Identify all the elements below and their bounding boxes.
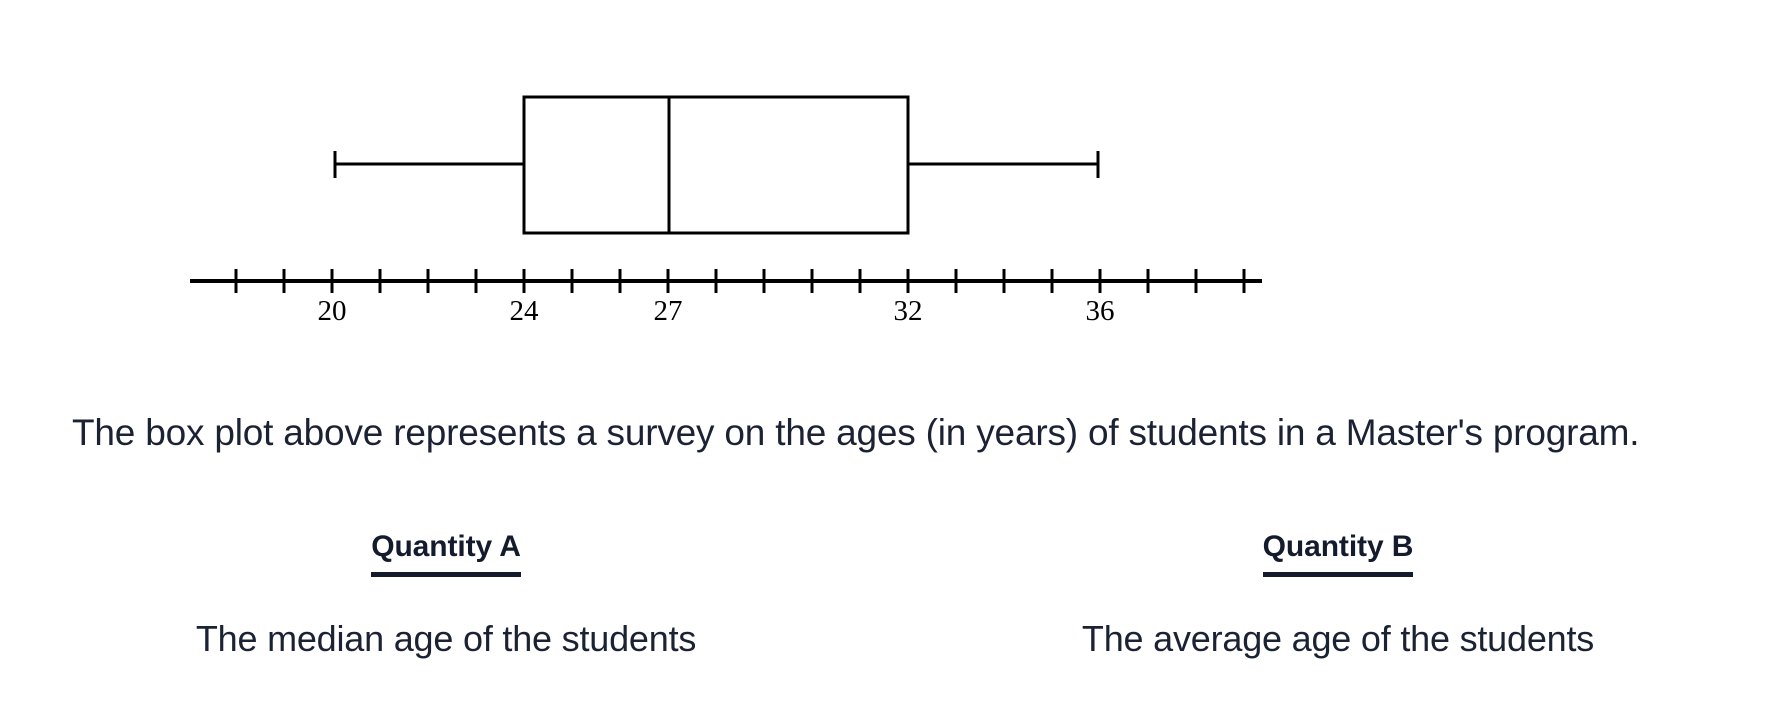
axis-tick-label-36: 36 — [1086, 295, 1115, 327]
quantity-a-description: The median age of the students — [196, 618, 696, 660]
quantity-b-description: The average age of the students — [1082, 618, 1594, 660]
axis-tick-label-32: 32 — [894, 295, 923, 327]
quantity-comparison: Quantity A The median age of the student… — [0, 530, 1784, 660]
number-line-axis: 20 24 27 32 36 — [190, 269, 1262, 327]
box-plot-svg: 20 24 27 32 36 — [0, 0, 1784, 340]
quantity-b-column: Quantity B The average age of the studen… — [892, 530, 1784, 660]
quantity-a-column: Quantity A The median age of the student… — [0, 530, 892, 660]
axis-tick-label-27: 27 — [654, 295, 683, 327]
interquartile-box — [524, 97, 908, 233]
quantity-a-heading: Quantity A — [371, 530, 521, 577]
box-plot-figure: 20 24 27 32 36 — [0, 0, 1784, 340]
quantity-b-heading: Quantity B — [1263, 530, 1414, 577]
prompt-sentence: The box plot above represents a survey o… — [72, 408, 1762, 458]
axis-tick-label-24: 24 — [510, 295, 540, 327]
axis-tick-label-20: 20 — [318, 295, 347, 327]
